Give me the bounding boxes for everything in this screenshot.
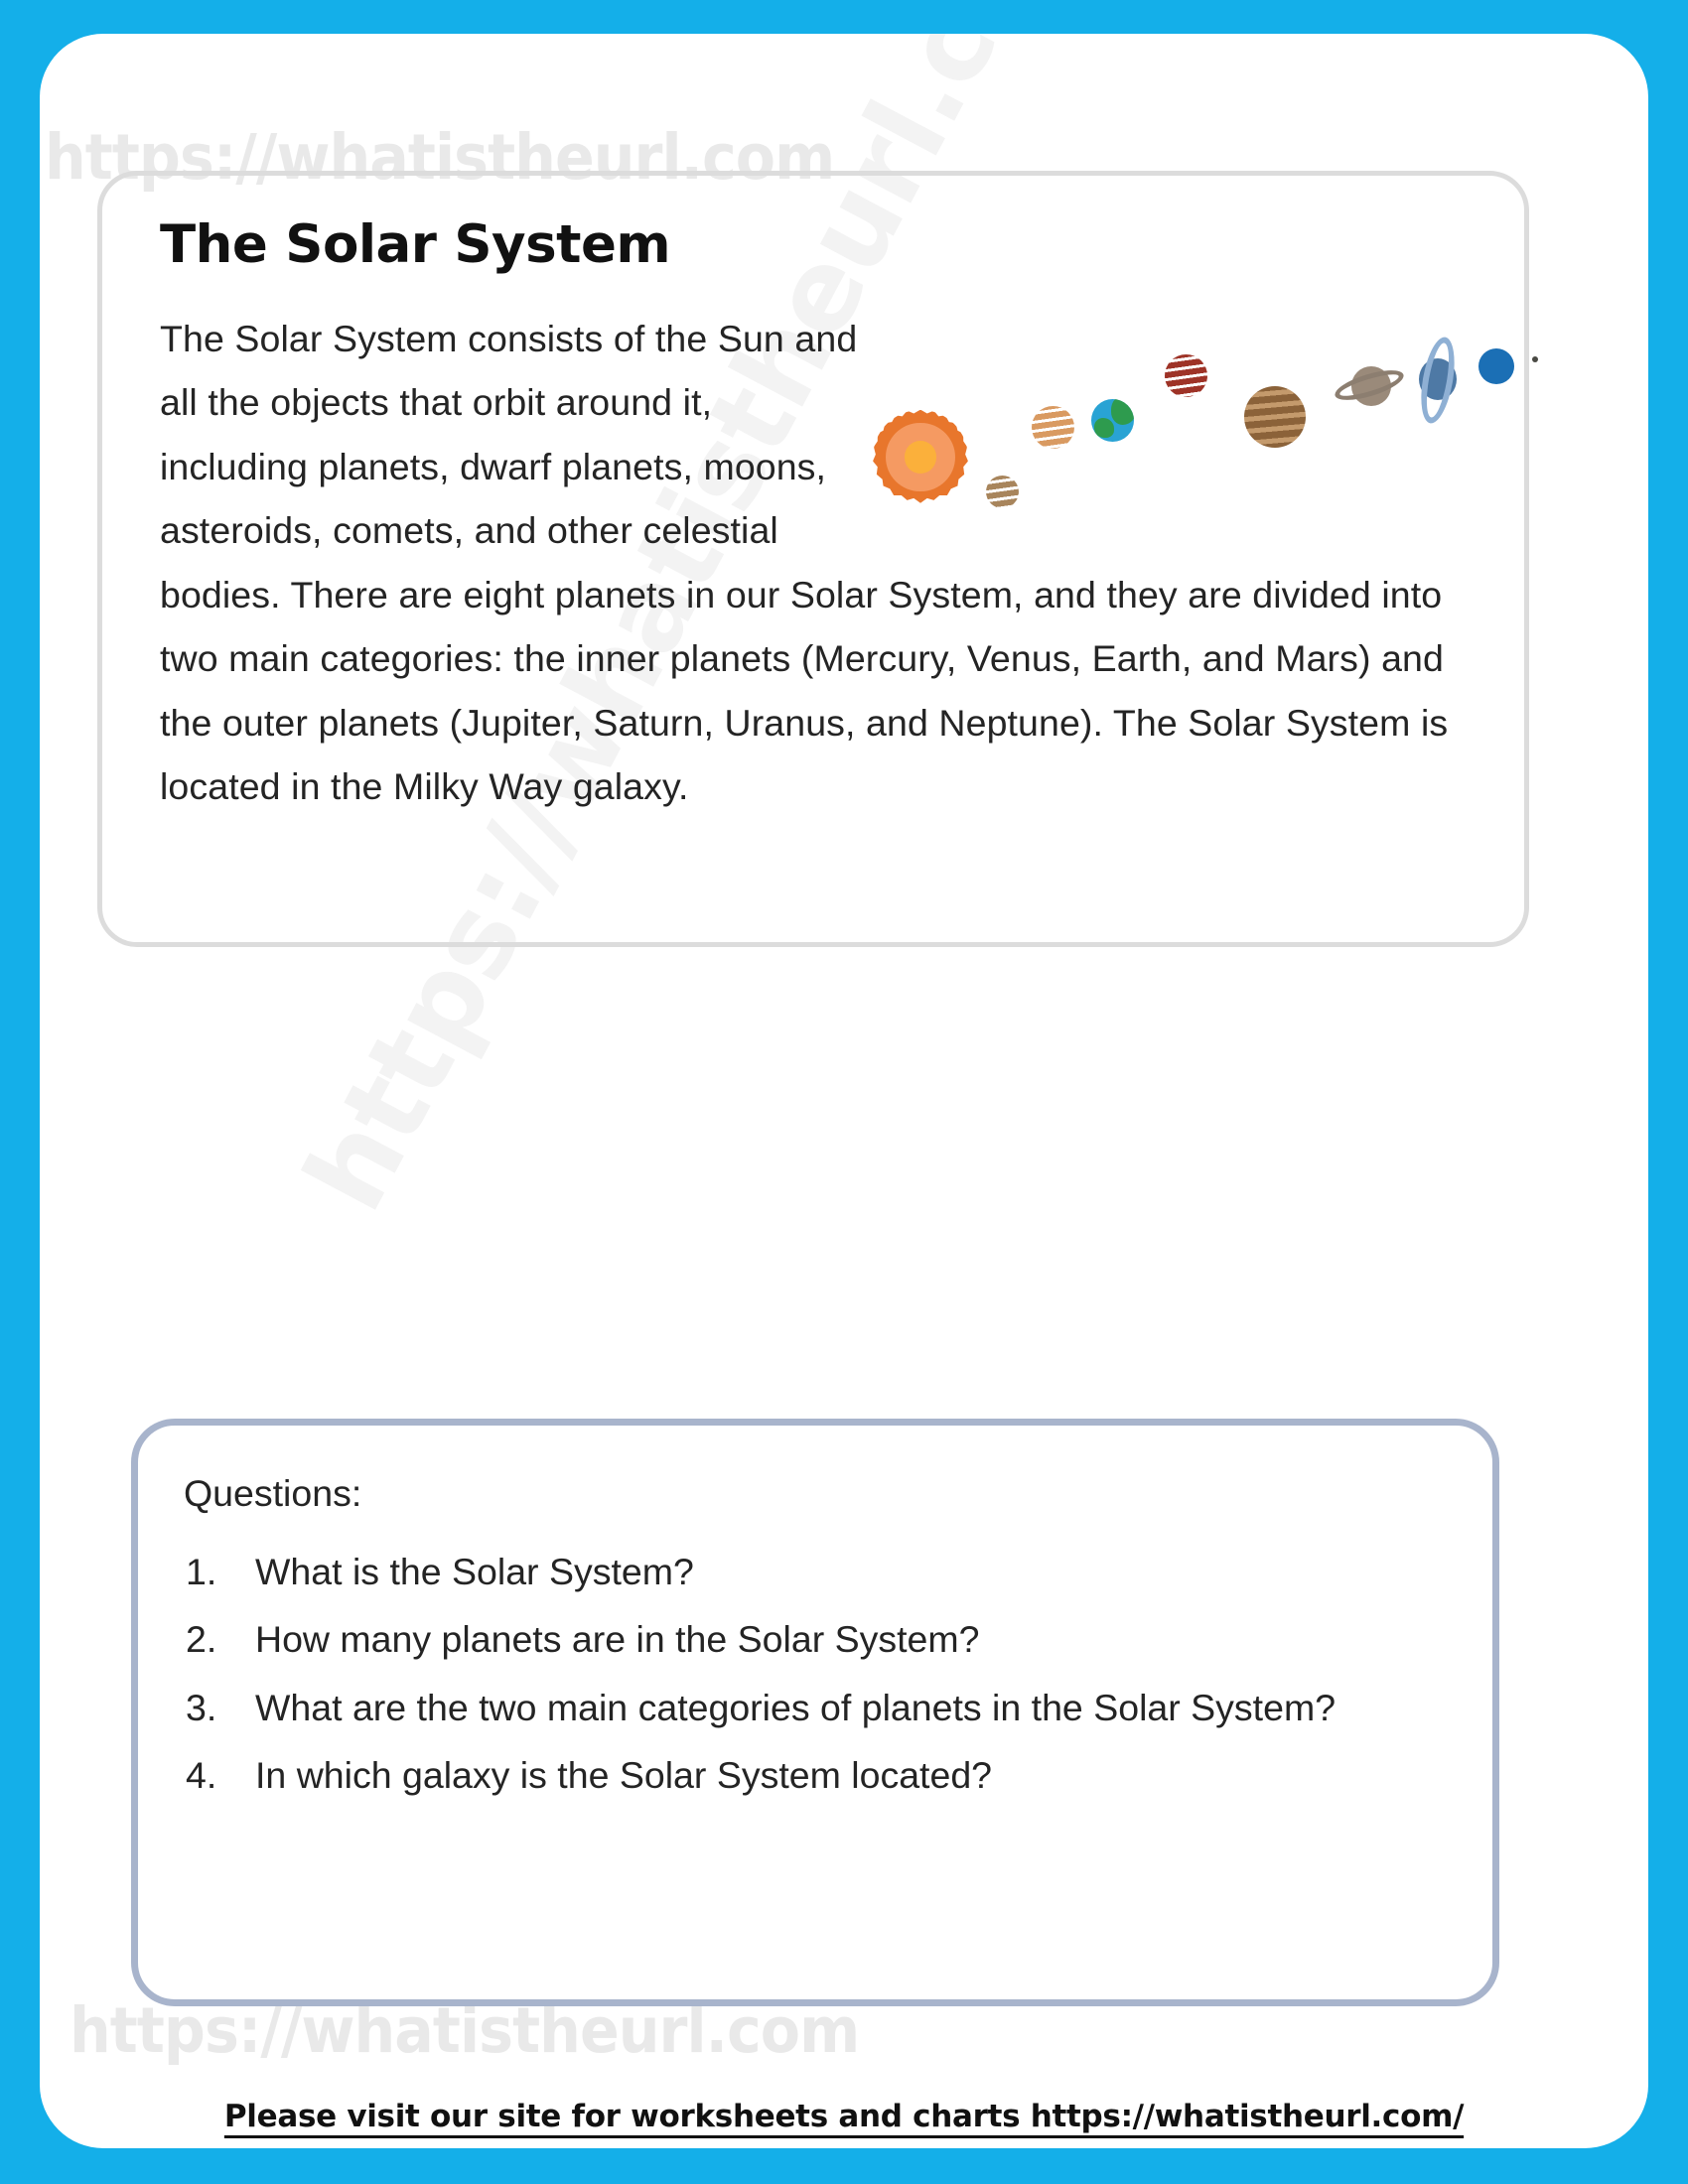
question-number: 4. [184, 1743, 255, 1808]
neptune-icon [1478, 348, 1514, 384]
sun-core [905, 441, 937, 474]
question-item: 4. In which galaxy is the Solar System l… [184, 1743, 1453, 1808]
sun-icon [873, 410, 968, 505]
mars-icon [1165, 354, 1207, 397]
jupiter-icon [1244, 386, 1306, 448]
question-item: 1. What is the Solar System? [184, 1540, 1453, 1604]
question-number: 3. [184, 1676, 255, 1740]
question-item: 3. What are the two main categories of p… [184, 1676, 1453, 1740]
questions-list: 1. What is the Solar System? 2. How many… [184, 1540, 1453, 1808]
mercury-icon [986, 476, 1019, 508]
questions-label: Questions: [184, 1469, 1453, 1518]
questions-card: Questions: 1. What is the Solar System? … [131, 1419, 1499, 2006]
page-title: The Solar System [160, 217, 1478, 273]
question-text: What are the two main categories of plan… [255, 1676, 1377, 1740]
solar-system-illustration [865, 315, 1478, 563]
passage-card: The Solar System [97, 171, 1529, 947]
question-item: 2. How many planets are in the Solar Sys… [184, 1607, 1453, 1672]
star-speck-icon [1532, 356, 1538, 362]
passage-inner: The Solar System [102, 176, 1524, 942]
question-text: What is the Solar System? [255, 1540, 1377, 1604]
saturn-icon [1334, 358, 1405, 414]
footer-site-link[interactable]: Please visit our site for worksheets and… [40, 2099, 1648, 2134]
question-text: In which galaxy is the Solar System loca… [255, 1743, 1377, 1808]
question-number: 1. [184, 1540, 255, 1604]
question-number: 2. [184, 1607, 255, 1672]
uranus-icon [1409, 337, 1465, 424]
question-text: How many planets are in the Solar System… [255, 1607, 1377, 1672]
earth-icon [1091, 399, 1134, 442]
venus-icon [1032, 406, 1074, 449]
worksheet-page: https://whatistheurl.com https://whatist… [40, 34, 1648, 2148]
